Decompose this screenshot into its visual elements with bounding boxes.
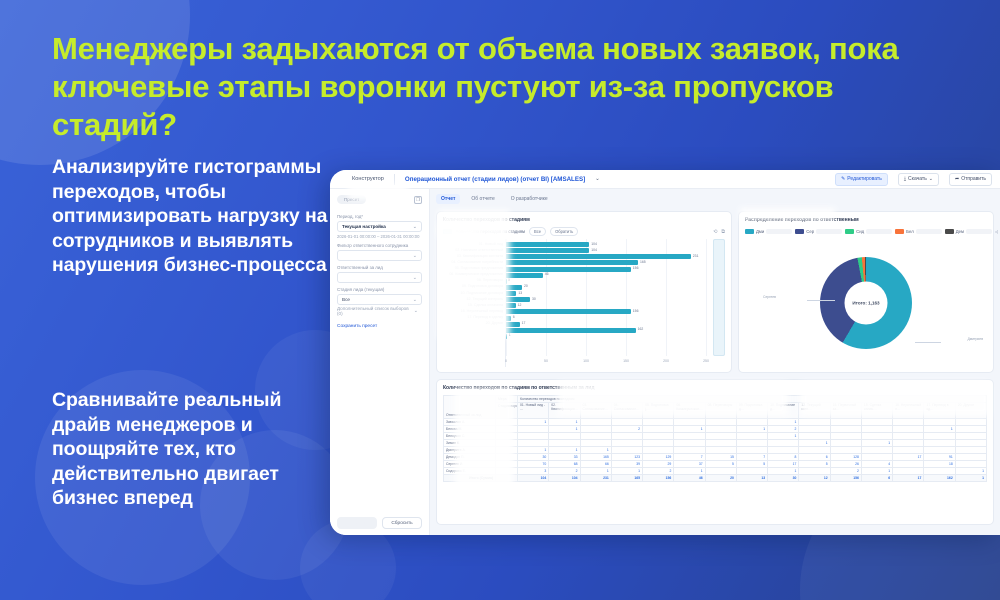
- row-label: Завьялов А.: [444, 419, 496, 426]
- x-tick-label: 50: [544, 359, 548, 363]
- measure-cell: [496, 426, 518, 433]
- table-cell[interactable]: [830, 440, 861, 447]
- sidebar-footer: Применить Сбросить: [337, 517, 422, 529]
- table-cell[interactable]: [736, 447, 767, 454]
- y-category-label: 16. Неуспешный перевод: [461, 309, 503, 313]
- y-category-label: 05. Подготовка предложения: [455, 266, 503, 270]
- table-cell[interactable]: [580, 440, 611, 447]
- page-title: Операционный отчет (стадии лидов) (отчет…: [405, 176, 585, 183]
- measure-cell: [496, 419, 518, 426]
- table-cell[interactable]: 70: [518, 461, 549, 468]
- table-cell[interactable]: [611, 440, 642, 447]
- table-cell[interactable]: [924, 419, 955, 426]
- table-cell[interactable]: 1: [518, 447, 549, 454]
- table-cell[interactable]: [549, 433, 580, 440]
- donut-legend-item[interactable]: Сид: [845, 229, 892, 234]
- legend-label: Дем: [956, 229, 964, 234]
- table-cell[interactable]: 6: [799, 454, 830, 461]
- x-tick-label: 250: [703, 359, 709, 363]
- y-category-label: 20. Другое: [486, 321, 503, 325]
- bar-value-label: 17: [522, 321, 526, 325]
- tab-developer[interactable]: О разработчике: [506, 194, 553, 204]
- column-header[interactable]: 20. Другое: [955, 403, 986, 419]
- table-cell[interactable]: 129: [643, 454, 674, 461]
- table-subheader-row: Стадия воронки 01. Новый лид - …02. Квал…: [444, 403, 987, 419]
- table-cell[interactable]: [924, 440, 955, 447]
- column-header[interactable]: 05. Подготовка (…: [643, 403, 674, 419]
- table-cell[interactable]: 7: [674, 454, 705, 461]
- table-cell[interactable]: 3: [518, 468, 549, 475]
- x-tick-label: 150: [623, 359, 629, 363]
- table-cell[interactable]: 17: [768, 461, 799, 468]
- bar-value-label: 13: [518, 291, 522, 295]
- chevron-down-icon: ⌄: [413, 253, 417, 259]
- legend-swatch: [895, 229, 904, 234]
- table-cell[interactable]: 15: [705, 454, 736, 461]
- bar[interactable]: [506, 285, 522, 290]
- filter-period-label: Период, год*: [337, 214, 422, 219]
- column-header[interactable]: 12. Текущий конт…: [799, 403, 830, 419]
- table-cell[interactable]: 1: [955, 475, 986, 482]
- table-cell[interactable]: 104: [549, 475, 580, 482]
- table-cell[interactable]: [955, 454, 986, 461]
- table-cell[interactable]: [799, 447, 830, 454]
- table-cell[interactable]: [799, 419, 830, 426]
- invert-pill[interactable]: Обратить: [550, 227, 578, 236]
- column-header[interactable]: 01. Новый лид - …: [518, 403, 549, 419]
- legend-label: Дми: [756, 229, 764, 234]
- redaction: [816, 229, 842, 234]
- table-cell[interactable]: 156: [643, 475, 674, 482]
- table-cell[interactable]: [736, 468, 767, 475]
- table-cell[interactable]: [643, 447, 674, 454]
- table-cell[interactable]: [768, 440, 799, 447]
- table-cell[interactable]: [518, 426, 549, 433]
- table-cell[interactable]: 1: [549, 426, 580, 433]
- chevron-down-icon: ⌄: [929, 177, 933, 182]
- donut-callout-right: Дмитриев: [967, 337, 983, 341]
- table-cell[interactable]: [861, 447, 892, 454]
- table-cell[interactable]: [924, 447, 955, 454]
- table-cell[interactable]: [893, 440, 924, 447]
- y-category-label: 04. Согласование потребности: [451, 260, 503, 264]
- table-cell[interactable]: 37: [674, 461, 705, 468]
- bar-value-label: 46: [545, 272, 549, 276]
- breadcrumb[interactable]: Конструктор: [352, 176, 384, 182]
- bar[interactable]: [506, 316, 511, 321]
- table-cell[interactable]: [955, 440, 986, 447]
- table-cell[interactable]: 12: [799, 475, 830, 482]
- table-cell[interactable]: 7: [736, 454, 767, 461]
- table-cell[interactable]: 17: [893, 475, 924, 482]
- table-cell[interactable]: 1: [768, 419, 799, 426]
- bar-value-label: 156: [633, 309, 639, 313]
- table-cell[interactable]: 4: [861, 461, 892, 468]
- reset-button[interactable]: Сбросить: [382, 517, 422, 529]
- legend-swatch: [945, 229, 954, 234]
- download-icon: ⤓: [904, 177, 906, 182]
- table-cell[interactable]: [674, 440, 705, 447]
- table-cell[interactable]: [893, 447, 924, 454]
- table-cell[interactable]: [924, 468, 955, 475]
- table-cell[interactable]: 162: [924, 475, 955, 482]
- divider: [394, 174, 395, 185]
- table-cell[interactable]: 30: [518, 454, 549, 461]
- table-cell[interactable]: 20: [705, 475, 736, 482]
- table-row[interactable]: Белова М.121121: [444, 426, 987, 433]
- table-row[interactable]: Сидорова Е.3211211211: [444, 468, 987, 475]
- table-cell[interactable]: [580, 433, 611, 440]
- donut-legend-item[interactable]: Бел: [895, 229, 942, 234]
- report-main: Отчет Об отчете О разработчике Количеств…: [430, 189, 1000, 535]
- table-cell[interactable]: 39: [611, 461, 642, 468]
- column-header[interactable]: 15. Сделка оплач…: [861, 403, 892, 419]
- table-cell[interactable]: 2: [643, 468, 674, 475]
- table-cell[interactable]: [549, 440, 580, 447]
- send-button-label: Отправить: [961, 176, 986, 182]
- legend-label: Бел: [906, 229, 914, 234]
- table-cell[interactable]: 91: [924, 454, 955, 461]
- filter-stage-label: Стадия лида (текущая): [337, 287, 422, 292]
- table-cell[interactable]: [861, 426, 892, 433]
- download-button[interactable]: ⤓ Скачать ⌄: [898, 173, 939, 186]
- donut-pagination[interactable]: ◁ 1/2 ▶ Все: [995, 227, 1000, 236]
- table-cell[interactable]: [893, 433, 924, 440]
- undo-icon[interactable]: ⟲: [713, 229, 717, 235]
- bar-value-label: 30: [532, 297, 536, 301]
- bar-chart-y-axis: 01. Новый лид02. Назначен ответственный0…: [443, 239, 505, 367]
- tab-report[interactable]: Отчет: [436, 194, 460, 204]
- table-cell[interactable]: 1: [955, 468, 986, 475]
- bar[interactable]: [506, 248, 589, 253]
- bar[interactable]: [506, 242, 589, 247]
- measure-cell: [496, 461, 518, 468]
- edit-button-label: Редактировать: [847, 176, 882, 182]
- table-cell[interactable]: 1: [674, 426, 705, 433]
- donut-legend-item[interactable]: Сер: [795, 229, 842, 234]
- row-label: Демидов П.: [444, 454, 496, 461]
- table-cell[interactable]: [736, 419, 767, 426]
- table-cell[interactable]: [893, 468, 924, 475]
- save-preset-link[interactable]: Сохранить пресет: [337, 324, 422, 329]
- table-cell[interactable]: [955, 461, 986, 468]
- table-header-row: Ответственный за лид Мера Количество пер…: [444, 396, 987, 403]
- table-cell[interactable]: [643, 426, 674, 433]
- table-cell[interactable]: 5: [705, 461, 736, 468]
- table-cell[interactable]: [674, 447, 705, 454]
- table-cell[interactable]: [799, 426, 830, 433]
- filter-lead-owner-select[interactable]: ⌄: [337, 272, 422, 283]
- chart-scrollbar[interactable]: [713, 239, 725, 356]
- table-cell[interactable]: [705, 447, 736, 454]
- promo-headline: Менеджеры задыхаются от объема новых зая…: [52, 30, 942, 144]
- table-cell[interactable]: 18: [924, 461, 955, 468]
- panel-collapse-icon[interactable]: ❐: [414, 196, 422, 204]
- y-category-label: 17. Перевод в сделку: [467, 315, 503, 319]
- table-row[interactable]: Белоусов С.1: [444, 433, 987, 440]
- table-cell[interactable]: [643, 433, 674, 440]
- table-cell[interactable]: [736, 440, 767, 447]
- table-row[interactable]: Зимин К.11: [444, 440, 987, 447]
- table-cell[interactable]: [674, 419, 705, 426]
- bar[interactable]: [506, 303, 516, 308]
- legend-label: Сид: [856, 229, 864, 234]
- table-cell[interactable]: [611, 447, 642, 454]
- bar[interactable]: [506, 279, 507, 284]
- chevron-down-icon[interactable]: ⌄: [595, 176, 600, 182]
- bar-chart-bars: 050100150200250 104104231165156460201330…: [505, 239, 725, 367]
- table-cell[interactable]: 68: [549, 461, 580, 468]
- row-label: Белова М.: [444, 426, 496, 433]
- table-cell[interactable]: [799, 433, 830, 440]
- bar-value-label: 231: [693, 254, 699, 258]
- table-cell[interactable]: 2: [611, 426, 642, 433]
- table-cell[interactable]: [830, 447, 861, 454]
- donut-legend-item[interactable]: Дми: [745, 229, 792, 234]
- column-header[interactable]: 17. Перевод в сд…: [924, 403, 955, 419]
- table-cell[interactable]: [893, 419, 924, 426]
- bar-value-label: 20: [524, 284, 528, 288]
- table-cell[interactable]: [861, 454, 892, 461]
- filter-lead-owner: Ответственный за лид ⌄: [337, 261, 422, 283]
- column-header[interactable]: 16. Неуспешный п…: [893, 403, 924, 419]
- table-row[interactable]: Дмитриев А.111: [444, 447, 987, 454]
- redaction: [916, 229, 942, 234]
- row-label: Дмитриев А.: [444, 447, 496, 454]
- column-header[interactable]: 04. Согласование…: [611, 403, 642, 419]
- legend-label: Сер: [806, 229, 814, 234]
- column-header[interactable]: 09. Подготовка д…: [736, 403, 767, 419]
- bar[interactable]: [506, 291, 516, 296]
- table-cell[interactable]: [580, 426, 611, 433]
- bar[interactable]: [506, 267, 631, 272]
- pencil-icon: ✎: [841, 177, 845, 182]
- table-cell[interactable]: [893, 426, 924, 433]
- table-cell[interactable]: 231: [580, 475, 611, 482]
- table-total-row[interactable]: Итого (Сумма)104104231165156462013301215…: [444, 475, 987, 482]
- table-cell[interactable]: 2: [768, 426, 799, 433]
- donut-legend-item[interactable]: Дем: [945, 229, 992, 234]
- table-cell[interactable]: 104: [518, 475, 549, 482]
- donut-chart-title: Распределение переходов по ответственным: [745, 217, 987, 223]
- y-category-label: 06. Коммерческое предложение: [449, 272, 503, 276]
- chevron-down-icon: ⌄: [413, 297, 417, 303]
- filter-period: Период, год* Текущая настройка ⌄ 2026-01…: [337, 210, 422, 239]
- table-cell[interactable]: 30: [768, 475, 799, 482]
- table-cell[interactable]: [830, 426, 861, 433]
- donut-center-label: Итого: 1,163: [845, 281, 888, 324]
- bar[interactable]: [506, 297, 530, 302]
- bar[interactable]: [506, 260, 638, 265]
- table-cell[interactable]: [799, 468, 830, 475]
- filter-period-select[interactable]: Текущая настройка ⌄: [337, 221, 422, 232]
- pivot-table-title: Количество переходов по стадиям по ответ…: [443, 385, 987, 391]
- column-header[interactable]: 15. Первичный за…: [830, 403, 861, 419]
- apply-button[interactable]: Применить: [337, 517, 377, 529]
- table-cell[interactable]: 6: [861, 475, 892, 482]
- table-cell[interactable]: [924, 433, 955, 440]
- prev-page-icon[interactable]: ◁: [995, 229, 998, 234]
- y-category-label: 03. Квалификация контакта: [457, 254, 503, 258]
- table-cell[interactable]: [705, 419, 736, 426]
- table-cell[interactable]: 165: [611, 475, 642, 482]
- filter-lead-owner-label: Ответственный за лид: [337, 265, 422, 270]
- table-cell[interactable]: 2: [549, 468, 580, 475]
- table-cell[interactable]: 1: [580, 447, 611, 454]
- tab-about[interactable]: Об отчете: [466, 194, 499, 204]
- table-cell[interactable]: 1: [799, 440, 830, 447]
- legend-label: Количество переходов по стадиям: [456, 229, 525, 234]
- table-cell[interactable]: [518, 440, 549, 447]
- donut-callout-left: Сергеев: [763, 295, 776, 299]
- table-cell[interactable]: [861, 419, 892, 426]
- table-cell[interactable]: 46: [674, 475, 705, 482]
- table-cell[interactable]: [736, 433, 767, 440]
- table-cell[interactable]: [643, 440, 674, 447]
- table-cell[interactable]: [955, 419, 986, 426]
- chevron-down-icon: ⌄: [413, 224, 417, 230]
- table-cell[interactable]: 128: [830, 454, 861, 461]
- table-cell[interactable]: 17: [893, 454, 924, 461]
- bar[interactable]: [506, 254, 691, 259]
- table-cell[interactable]: [955, 426, 986, 433]
- table-cell[interactable]: 8: [768, 454, 799, 461]
- table-cell[interactable]: 66: [580, 461, 611, 468]
- edit-button[interactable]: ✎ Редактировать: [835, 173, 888, 186]
- table-cell[interactable]: 1: [924, 426, 955, 433]
- bar-value-label: 162: [638, 327, 644, 331]
- pivot-table[interactable]: Ответственный за лид Мера Количество пер…: [443, 395, 987, 482]
- measure-value-header: Количество переходов по стадиям: [518, 396, 987, 403]
- column-header[interactable]: 06. Коммерческое…: [674, 403, 705, 419]
- pivot-table-head: Ответственный за лид Мера Количество пер…: [444, 396, 987, 419]
- table-cell[interactable]: 5: [799, 461, 830, 468]
- table-cell[interactable]: 1: [674, 468, 705, 475]
- table-cell[interactable]: [955, 447, 986, 454]
- column-header[interactable]: 02. Квалификация…: [549, 403, 580, 419]
- bar-chart-panel: Количество переходов по стадиям Количест…: [436, 211, 732, 373]
- copy-icon[interactable]: ⧉: [721, 229, 725, 235]
- table-cell[interactable]: [861, 433, 892, 440]
- grid-line: [706, 239, 707, 356]
- table-cell[interactable]: 1: [549, 447, 580, 454]
- table-cell[interactable]: 13: [736, 475, 767, 482]
- column-header[interactable]: 03. Согласование…: [580, 403, 611, 419]
- table-cell[interactable]: 33: [549, 454, 580, 461]
- send-button[interactable]: ➦ Отправить: [949, 173, 992, 186]
- measure-header: Мера: [496, 396, 518, 403]
- bar-value-label: 104: [591, 248, 597, 252]
- preset-chip[interactable]: Пресет: [337, 195, 366, 204]
- table-cell[interactable]: 1: [518, 419, 549, 426]
- legend-swatch: [745, 229, 754, 234]
- filter-employee-label: Фильтр ответственного сотрудника: [337, 243, 422, 248]
- table-row[interactable]: Сергеев И.7068663929375517526418: [444, 461, 987, 468]
- table-cell[interactable]: 1: [861, 468, 892, 475]
- redaction: [966, 229, 992, 234]
- x-tick-label: 200: [663, 359, 669, 363]
- redaction: [866, 229, 892, 234]
- y-category-label: 02. Назначен ответственный: [455, 248, 503, 252]
- bar[interactable]: [506, 334, 507, 339]
- table-cell[interactable]: [643, 419, 674, 426]
- bar[interactable]: [506, 309, 631, 314]
- table-cell[interactable]: [518, 433, 549, 440]
- table-cell[interactable]: [955, 433, 986, 440]
- table-cell[interactable]: 165: [580, 454, 611, 461]
- table-cell[interactable]: [830, 419, 861, 426]
- table-cell[interactable]: 156: [830, 475, 861, 482]
- column-header[interactable]: 08. Переговоры: [705, 403, 736, 419]
- table-cell[interactable]: 1: [861, 440, 892, 447]
- donut-ring[interactable]: Итого: 1,163: [820, 257, 912, 349]
- table-cell[interactable]: 1: [736, 426, 767, 433]
- promo-paragraph-1: Анализируйте гистограммы переходов, чтоб…: [52, 155, 337, 278]
- table-cell[interactable]: 1: [768, 433, 799, 440]
- download-button-label: Скачать: [908, 176, 927, 182]
- y-category-label: 08. Переговоры: [477, 278, 503, 282]
- bar[interactable]: [506, 322, 520, 327]
- filter-extra-select[interactable]: Дополнительный список выборов (0) ⌄: [337, 305, 422, 316]
- y-category-label: 12. Текущий контроль: [467, 297, 504, 301]
- table-row[interactable]: Демидов П.30331651231297157861281791: [444, 454, 987, 461]
- y-category-label: 15. Сделка оплачена: [468, 303, 503, 307]
- measure-cell: [496, 447, 518, 454]
- row-label: Сидорова Е.: [444, 468, 496, 475]
- table-cell[interactable]: [705, 433, 736, 440]
- table-cell[interactable]: 2: [830, 468, 861, 475]
- table-cell[interactable]: 1: [549, 419, 580, 426]
- table-cell[interactable]: 1: [768, 468, 799, 475]
- filter-stage-select[interactable]: Все ⌄: [337, 294, 422, 305]
- table-cell[interactable]: 1: [580, 468, 611, 475]
- legend-swatch: [795, 229, 804, 234]
- table-row[interactable]: Завьялов А.111: [444, 419, 987, 426]
- bar[interactable]: [506, 273, 543, 278]
- filter-all-pill[interactable]: Все: [529, 227, 546, 236]
- table-cell[interactable]: 123: [611, 454, 642, 461]
- table-cell[interactable]: [830, 433, 861, 440]
- y-category-label: 01. Новый лид: [479, 242, 503, 246]
- column-header[interactable]: 10. Подписание д…: [768, 403, 799, 419]
- table-cell[interactable]: [674, 433, 705, 440]
- corner-header: Ответственный за лид: [444, 396, 496, 419]
- table-cell[interactable]: [705, 440, 736, 447]
- table-cell[interactable]: [580, 419, 611, 426]
- table-cell[interactable]: [768, 447, 799, 454]
- legend-swatch: [845, 229, 854, 234]
- bar-value-label: 12: [518, 303, 522, 307]
- table-cell[interactable]: [705, 468, 736, 475]
- measure-cell: [496, 454, 518, 461]
- table-cell[interactable]: [611, 433, 642, 440]
- sidebar-header: Пресет ❐: [337, 195, 422, 204]
- measure-cell: [496, 468, 518, 475]
- y-category-label: 10. Подписание договора: [460, 291, 503, 295]
- table-cell[interactable]: 26: [830, 461, 861, 468]
- row-label: Белоусов С.: [444, 433, 496, 440]
- table-cell[interactable]: [893, 461, 924, 468]
- table-cell[interactable]: 5: [736, 461, 767, 468]
- pivot-table-panel: Количество переходов по стадиям по ответ…: [436, 379, 994, 525]
- table-cell[interactable]: 1: [611, 468, 642, 475]
- filter-employee-select[interactable]: ⌄: [337, 250, 422, 261]
- table-cell[interactable]: [611, 419, 642, 426]
- redaction: [766, 229, 792, 234]
- table-cell[interactable]: 29: [643, 461, 674, 468]
- bar[interactable]: [506, 328, 636, 333]
- table-cell[interactable]: [705, 426, 736, 433]
